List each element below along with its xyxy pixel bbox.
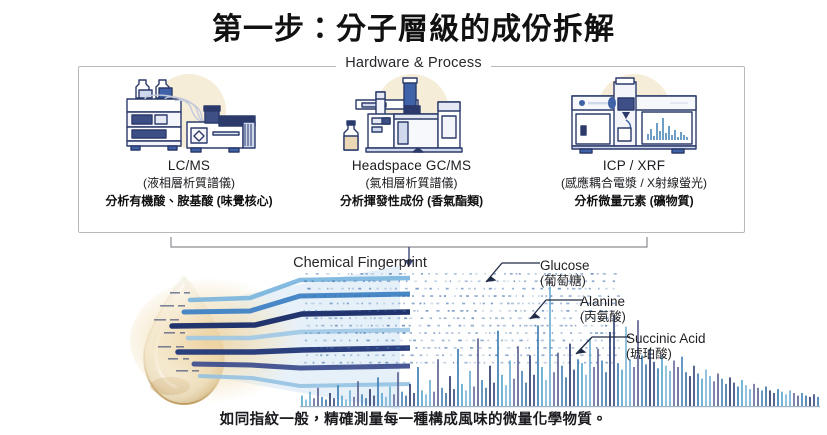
annotation-name: Glucose <box>540 258 590 273</box>
instrument-description: 分析微量元素 (礦物質) <box>574 192 693 209</box>
annotation-name: Alanine <box>580 294 625 309</box>
annotation-succinic-acid: Succinic Acid (琥珀酸) <box>626 331 706 361</box>
icp-xrf-instrument-icon <box>539 72 729 154</box>
instrument-name: ICP / XRF <box>603 158 665 173</box>
instrument-description: 分析揮發性成份 (香氣酯類) <box>340 192 483 209</box>
instrument-subtitle: (液相層析質譜儀) <box>143 174 235 191</box>
gcms-instrument-icon <box>317 72 507 154</box>
instrument-list: LC/MS (液相層析質譜儀) 分析有機酸、胺基酸 (味覺核心) <box>78 72 745 222</box>
annotation-name: Succinic Acid <box>626 331 706 346</box>
instrument-name: Headspace GC/MS <box>352 158 471 173</box>
annotation-alanine: Alanine (丙氨酸) <box>580 294 626 324</box>
infographic-slide: 第一步：分子層級的成份拆解 Hardware & Process <box>0 0 827 435</box>
instrument-card-gcms[interactable]: Headspace GC/MS (氣相層析質譜儀) 分析揮發性成份 (香氣酯類) <box>301 72 523 209</box>
instrument-name: LC/MS <box>168 158 210 173</box>
page-title: 第一步：分子層級的成份拆解 <box>0 4 827 48</box>
instrument-subtitle: (氣相層析質譜儀) <box>366 174 458 191</box>
annotation-glucose: Glucose (葡萄糖) <box>540 258 590 288</box>
annotation-name-cn: (琥珀酸) <box>626 347 706 361</box>
annotation-name-cn: (葡萄糖) <box>540 274 590 288</box>
annotation-name-cn: (丙氨酸) <box>580 310 626 324</box>
instrument-description: 分析有機酸、胺基酸 (味覺核心) <box>105 192 272 209</box>
instrument-card-icp-xrf[interactable]: ICP / XRF (感應耦合電漿 / X射線螢光) 分析微量元素 (礦物質) <box>523 72 745 209</box>
footer-caption: 如同指紋一般，精確測量每一種構成風味的微量化學物質。 <box>0 408 827 429</box>
instrument-subtitle: (感應耦合電漿 / X射線螢光) <box>561 174 707 191</box>
lcms-instrument-icon <box>94 72 284 154</box>
instrument-card-lcms[interactable]: LC/MS (液相層析質譜儀) 分析有機酸、胺基酸 (味覺核心) <box>78 72 300 209</box>
